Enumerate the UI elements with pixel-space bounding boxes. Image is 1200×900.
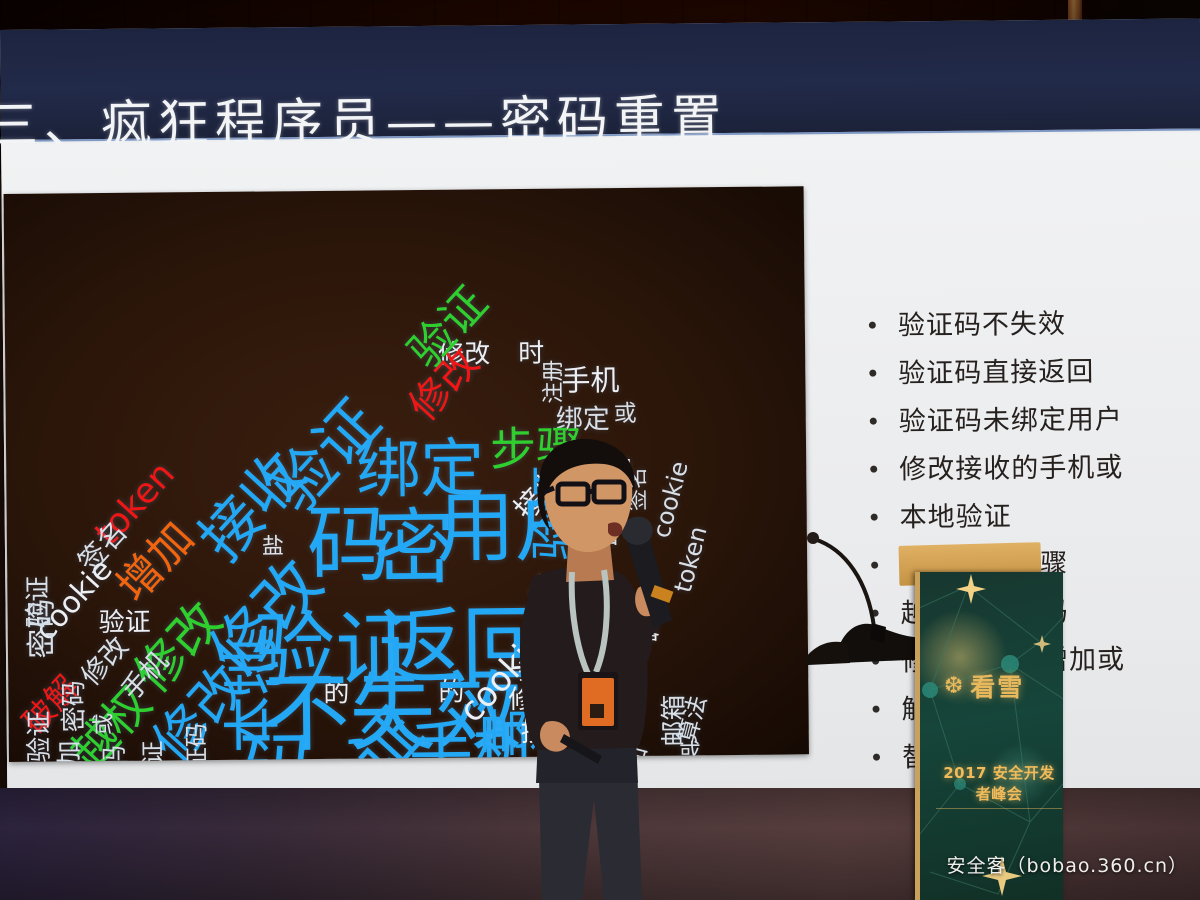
podium: ❆ 看雪 2017 安全开发者峰会 xyxy=(905,562,1065,900)
word-cloud-word: 验证 xyxy=(141,740,165,761)
bullet-label: 验证码不失效 xyxy=(898,302,1066,343)
word-cloud-word: 验证 xyxy=(25,576,51,628)
bullet-label: 验证码未绑定用户 xyxy=(899,397,1123,438)
bullet-item: 验证码直接返回 xyxy=(869,348,1200,390)
word-cloud-word: 验证 xyxy=(99,610,151,636)
word-cloud-word: 密码 xyxy=(61,680,87,732)
bullet-label: 修改接收的手机或 xyxy=(899,445,1123,486)
bullet-dot-icon xyxy=(870,418,877,425)
bullet-dot-icon xyxy=(869,370,876,377)
word-cloud-word: 注册 xyxy=(543,360,565,404)
bullet-dot-icon xyxy=(869,322,876,329)
bullet-dot-icon xyxy=(873,754,880,761)
word-cloud-word: 码 xyxy=(239,731,318,762)
word-cloud-word: 盐 xyxy=(262,536,284,558)
word-cloud-word: 或 xyxy=(94,713,116,735)
kanxue-logo: ❆ 看雪 xyxy=(944,668,1054,704)
kanxue-brand-text: 看雪 xyxy=(970,668,1024,704)
bullet-dot-icon xyxy=(870,466,877,473)
bullet-item: 验证码未绑定用户 xyxy=(870,396,1200,438)
bullet-label: 验证码直接返回 xyxy=(898,350,1094,391)
bullet-dot-icon xyxy=(871,514,878,521)
word-cloud-word: 手机 xyxy=(561,366,619,396)
word-cloud-word: 增加 xyxy=(57,740,83,762)
snowflake-icon: ❆ xyxy=(944,673,965,699)
bullet-item: 修改接收的手机或 xyxy=(870,444,1200,486)
bullet-dot-icon xyxy=(873,706,880,713)
word-cloud-word: 密码 xyxy=(102,745,128,762)
event-name: 2017 安全开发者峰会 xyxy=(936,762,1062,809)
word-cloud-word: 或 xyxy=(614,403,637,426)
watermark: 安全客（bobao.360.cn） xyxy=(946,851,1188,878)
stage-scene: 三、疯狂程序员——密码重置 修改时手机注册绑定或修改验证验证步骤接收增加签名绑定… xyxy=(0,0,1200,900)
word-cloud-word: 验证 xyxy=(27,711,53,762)
word-cloud-word: 验证码 xyxy=(185,723,210,762)
bullet-item: 验证码不失效 xyxy=(869,300,1200,342)
speaker-person xyxy=(486,438,706,900)
